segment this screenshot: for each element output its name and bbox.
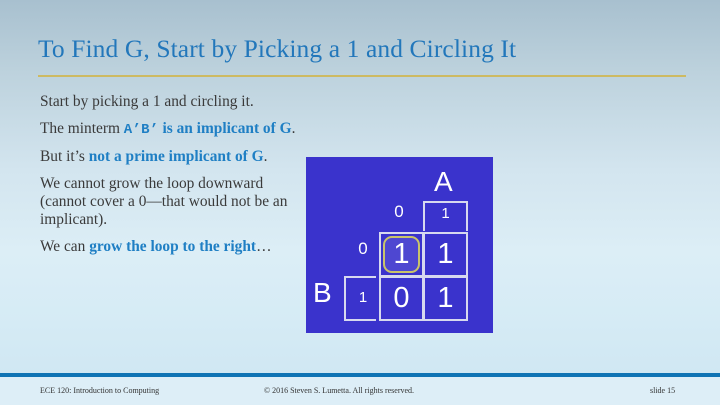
title-divider: [38, 75, 686, 77]
paragraph-5-suffix: …: [256, 238, 271, 255]
paragraph-2-prefix: The minterm: [40, 120, 124, 137]
footer-slide-number: slide 15: [650, 386, 675, 395]
kmap-axis-a-value-0: 0: [378, 202, 420, 222]
minterm-expression: A’B’: [124, 122, 159, 138]
kmap-axis-label-a: A: [434, 168, 453, 196]
paragraph-3-highlight-text: not a prime implicant of: [89, 148, 252, 165]
kmap-cell-a1b1: 1: [423, 276, 468, 321]
karnaugh-map-figure: A 1 0 B 1 0 1 1 0 1: [306, 157, 493, 333]
paragraph-3-suffix: .: [264, 148, 268, 165]
kmap-cell-a1b0: 1: [423, 232, 468, 277]
bullet-paragraph-1: Start by picking a 1 and circling it.: [40, 93, 312, 111]
paragraph-1-text: Start by picking a 1 and circling it.: [40, 93, 254, 110]
paragraph-4-text: We cannot grow the loop downward (cannot…: [40, 175, 287, 228]
kmap-axis-b-value-0: 0: [350, 239, 376, 259]
paragraph-3-prefix: But it’s: [40, 148, 89, 165]
paragraph-2-highlight-text: is an implicant of: [162, 120, 279, 137]
body-text-column: Start by picking a 1 and circling it. Th…: [40, 93, 312, 266]
paragraph-3-highlight-g: G: [252, 148, 264, 165]
bullet-paragraph-4: We cannot grow the loop downward (cannot…: [40, 175, 312, 230]
kmap-cell-a0b0: 1: [379, 232, 424, 277]
karnaugh-map-canvas: A 1 0 B 1 0 1 1 0 1: [306, 157, 493, 333]
title-area: To Find G, Start by Picking a 1 and Circ…: [38, 34, 688, 64]
paragraph-3-highlight: not a prime implicant of G: [89, 148, 264, 165]
kmap-axis-b-value-1: 1: [350, 289, 376, 306]
paragraph-2-highlight-g: G: [280, 120, 292, 137]
kmap-cell-a0b1: 0: [379, 276, 424, 321]
paragraph-5-prefix: We can: [40, 238, 89, 255]
footer-copyright: © 2016 Steven S. Lumetta. All rights res…: [264, 386, 414, 395]
bullet-paragraph-2: The minterm A’B’ is an implicant of G.: [40, 120, 312, 139]
paragraph-2-suffix: .: [292, 120, 296, 137]
page-title: To Find G, Start by Picking a 1 and Circ…: [38, 34, 688, 64]
bullet-paragraph-3: But it’s not a prime implicant of G.: [40, 148, 312, 166]
paragraph-2-highlight: is an implicant of G: [159, 120, 292, 137]
bullet-paragraph-5: We can grow the loop to the right…: [40, 238, 312, 256]
kmap-axis-a-value-1: 1: [423, 205, 468, 222]
kmap-axis-label-b: B: [313, 279, 332, 307]
paragraph-5-highlight: grow the loop to the right: [89, 238, 256, 255]
footer-course-label: ECE 120: Introduction to Computing: [40, 386, 159, 395]
